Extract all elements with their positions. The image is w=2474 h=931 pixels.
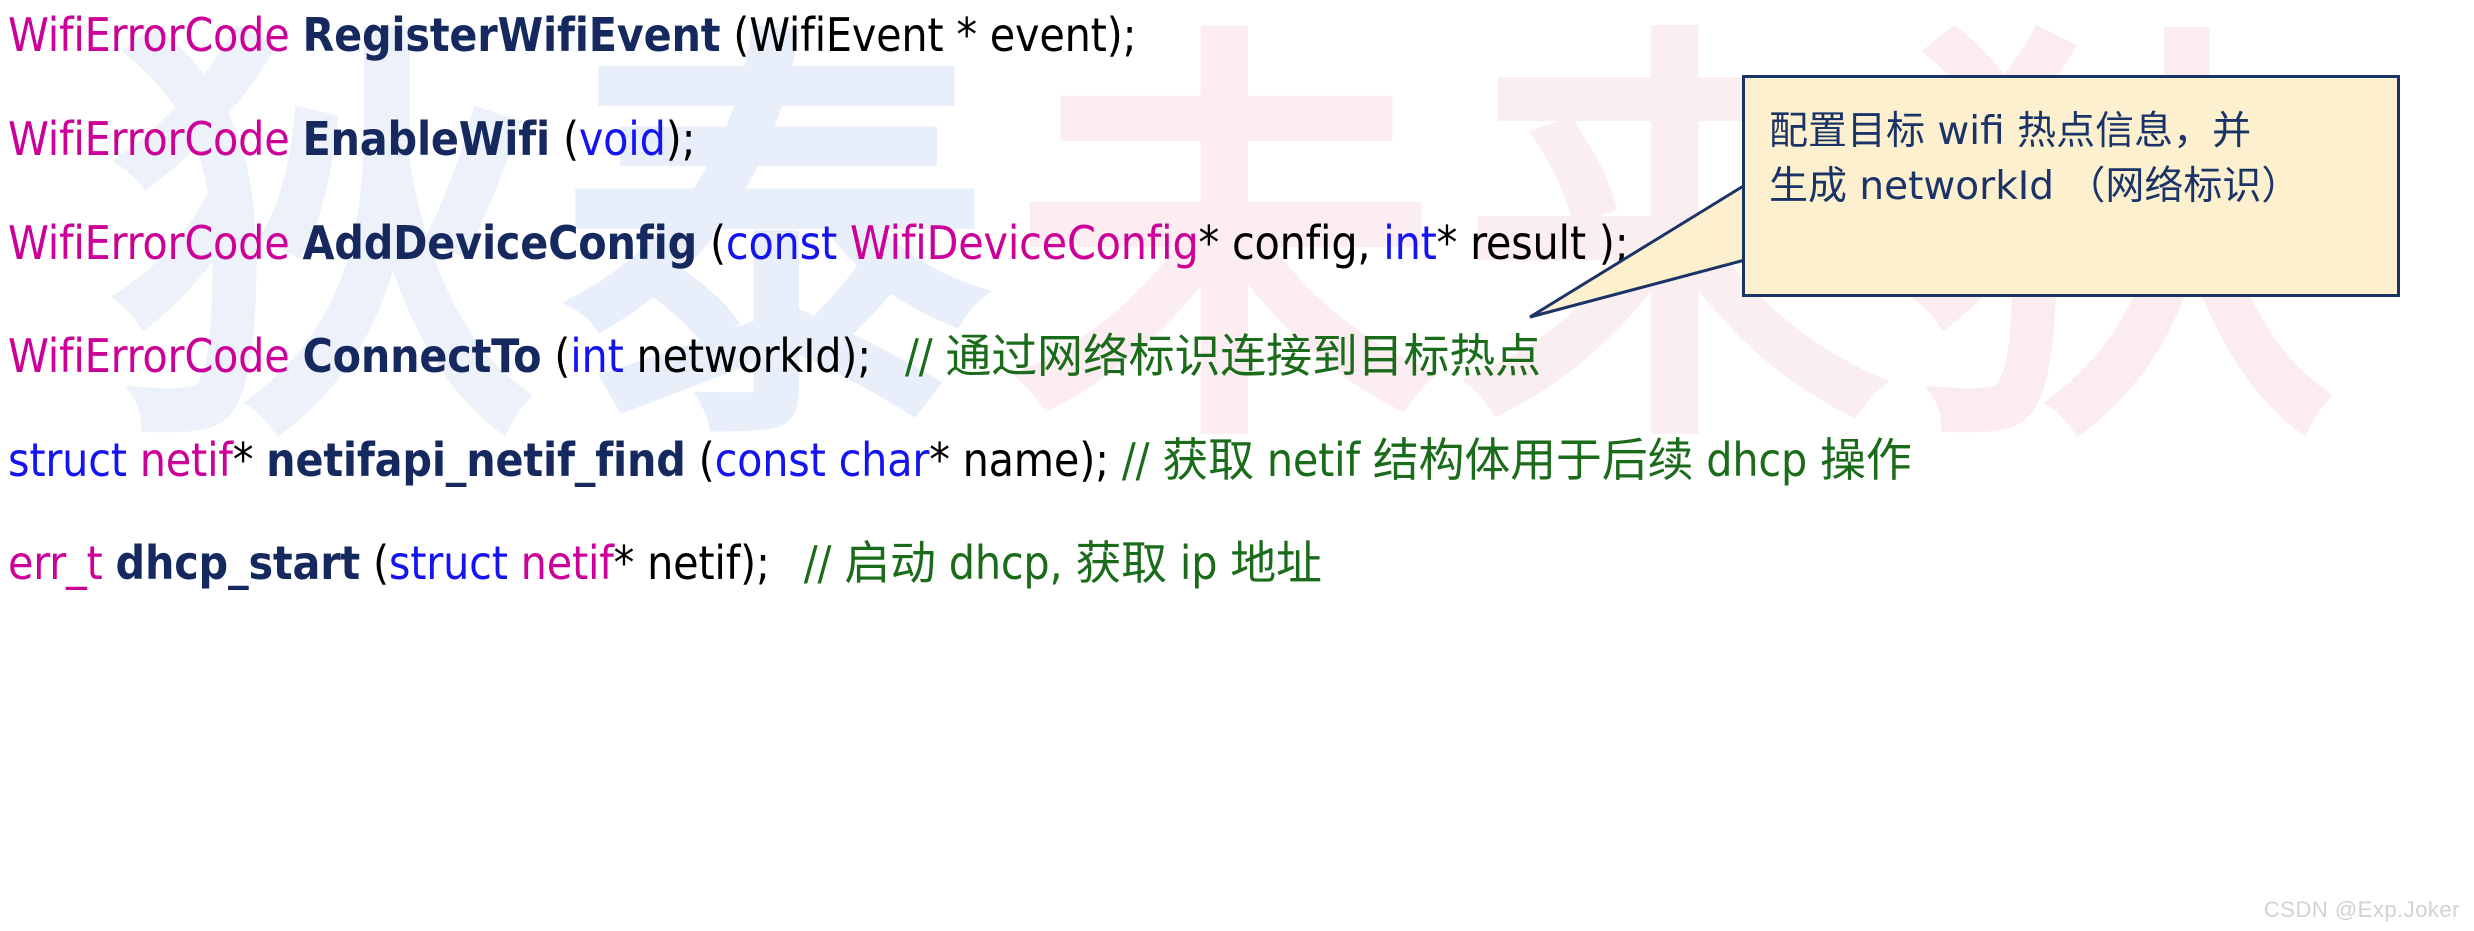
callout-box: 配置目标 wifi 热点信息，并 生成 networkId （网络标识） (1742, 75, 2400, 297)
code-token-type: WifiErrorCode (8, 329, 290, 383)
callout-pointer (1480, 175, 1770, 335)
code-token-fn: RegisterWifiEvent (302, 8, 720, 62)
code-token-plain: (WifiEvent * event); (720, 8, 1136, 62)
code-token-kw: const (726, 216, 837, 270)
code-token-plain (127, 433, 140, 487)
code-token-plain: ( (541, 329, 570, 383)
code-token-plain (103, 536, 116, 590)
code-token-plain (290, 216, 303, 270)
slide-canvas: 狄 泰 未 来 狄 WifiErrorCode RegisterWifiEven… (0, 0, 2474, 931)
code-token-plain (837, 216, 850, 270)
code-token-comment: // 通过网络标识连接到目标热点 (905, 329, 1541, 383)
code-token-plain: ); (666, 112, 696, 166)
code-token-fn: ConnectTo (302, 329, 541, 383)
code-token-plain: * config, (1199, 216, 1384, 270)
code-token-plain: ( (697, 216, 726, 270)
code-token-type: WifiErrorCode (8, 112, 290, 166)
code-token-comment: // 获取 netif 结构体用于后续 dhcp 操作 (1122, 433, 1912, 487)
code-line-register-wifi-event: WifiErrorCode RegisterWifiEvent (WifiEve… (8, 8, 1136, 62)
code-token-kw: void (579, 112, 666, 166)
code-token-type: netif (521, 536, 614, 590)
code-token-type: WifiErrorCode (8, 8, 290, 62)
callout-text: 配置目标 wifi 热点信息，并 生成 networkId （网络标识） (1769, 104, 2387, 215)
code-token-fn: dhcp_start (116, 536, 361, 590)
code-token-type: WifiDeviceConfig (850, 216, 1199, 270)
code-token-plain: * netif); (614, 536, 770, 590)
code-token-kw: const char (715, 433, 930, 487)
code-token-plain: networkId); (624, 329, 871, 383)
code-line-dhcp-start: err_t dhcp_start (struct netif* netif);/… (8, 527, 1322, 593)
code-token-plain (290, 329, 303, 383)
code-token-kw: int (1383, 216, 1436, 270)
code-token-kw: struct (389, 536, 508, 590)
code-token-comment: // 启动 dhcp, 获取 ip 地址 (804, 536, 1322, 590)
code-token-fn: AddDeviceConfig (302, 216, 697, 270)
code-token-plain (508, 536, 521, 590)
code-token-type: WifiErrorCode (8, 216, 290, 270)
code-token-plain (290, 112, 303, 166)
code-line-connect-to: WifiErrorCode ConnectTo (int networkId);… (8, 320, 1541, 386)
code-token-fn: EnableWifi (302, 112, 550, 166)
code-token-fn: netifapi_netif_find (266, 433, 686, 487)
code-line-add-device-config: WifiErrorCode AddDeviceConfig (const Wif… (8, 216, 1629, 270)
code-token-plain: ( (360, 536, 389, 590)
code-line-enable-wifi: WifiErrorCode EnableWifi (void); (8, 112, 695, 166)
code-token-type: netif (140, 433, 233, 487)
code-token-plain: ( (686, 433, 715, 487)
code-token-kw: struct (8, 433, 127, 487)
code-token-type: err_t (8, 536, 103, 590)
code-token-kw: int (570, 329, 623, 383)
code-line-netifapi-netif-find: struct netif* netifapi_netif_find (const… (8, 424, 1912, 490)
code-token-plain: ( (550, 112, 579, 166)
csdn-watermark: CSDN @Exp.Joker (2264, 897, 2460, 923)
code-token-plain: * (233, 433, 266, 487)
code-token-plain: * name); (929, 433, 1122, 487)
code-token-plain (290, 8, 303, 62)
